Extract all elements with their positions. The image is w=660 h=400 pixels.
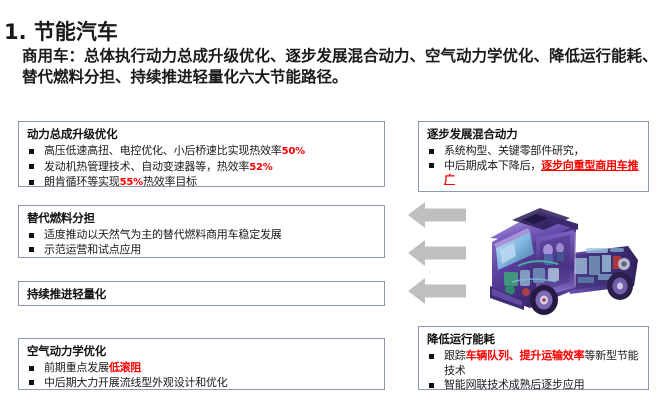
bullet-highlight: 低滚阻 [109,361,141,374]
bullet-square-icon [429,163,434,168]
card-lightweight-title: 持续推进轻量化 [27,287,378,302]
card-hybrid-power-bullets: 系统构型、关键零部件研究， 中后期成本下降后，逐步向重型商用车推广 [427,144,642,188]
list-item: 适度推动以天然气为主的替代燃料商用车稳定发展 [27,228,378,243]
bullet-text: 高压低速高扭、电控优化、小后桥速比实现热效率 [44,144,282,157]
card-powertrain: 动力总成升级优化 高压低速高扭、电控优化、小后桥速比实现热效率50% 发动机热管… [18,121,385,187]
bullet-text: 系统构型、关键零部件研究， [444,144,584,157]
bullet-square-icon [429,354,434,359]
card-alternative-fuel-bullets: 适度推动以天然气为主的替代燃料商用车稳定发展 示范运营和试点应用 [27,228,378,257]
bullet-text-before: 中后期成本下降后， [444,159,541,172]
card-energy-consumption: 降低运行能耗 跟踪车辆队列、提升运输效率等新型节能技术 智能网联技术成熟后逐步应… [418,326,649,390]
bullet-text-before: 跟踪 [444,349,466,362]
card-powertrain-bullets: 高压低速高扭、电控优化、小后桥速比实现热效率50% 发动机热管理技术、自动变速器… [27,144,378,191]
list-item: 发动机热管理技术、自动变速器等，热效率52% [27,160,378,176]
list-item: 高压低速高扭、电控优化、小后桥速比实现热效率50% [27,144,378,160]
bullet-highlight: 50% [282,146,305,157]
bullet-square-icon [29,247,34,252]
card-hybrid-power: 逐步发展混合动力 系统构型、关键零部件研究， 中后期成本下降后，逐步向重型商用车… [418,121,649,192]
bullet-text: 智能网联技术成熟后逐步应用 [444,378,584,391]
bullet-square-icon [429,383,434,388]
card-lightweight: 持续推进轻量化 [18,281,385,306]
bullet-highlight: 52% [249,162,272,173]
bullet-square-icon [29,180,34,185]
list-item: 前期重点发展低滚阻 [27,361,378,376]
page-title: 1. 节能汽车 [4,16,118,46]
card-aerodynamics-bullets: 前期重点发展低滚阻 中后期大力开展流线型外观设计和优化 [27,361,378,390]
list-item: 系统构型、关键零部件研究， [427,144,642,159]
bullet-square-icon [29,366,34,371]
bullet-text: 适度推动以天然气为主的替代燃料商用车稳定发展 [44,228,282,241]
page-subtitle: 商用车：总体执行动力总成升级优化、逐步发展混合动力、空气动力学优化、降低运行能耗… [22,46,658,88]
bullet-square-icon [29,233,34,238]
card-energy-consumption-bullets: 跟踪车辆队列、提升运输效率等新型节能技术 智能网联技术成熟后逐步应用 [427,349,642,393]
bullet-text: 发动机热管理技术、自动变速器等，热效率 [44,160,249,173]
bullet-square-icon [29,149,34,154]
card-powertrain-title: 动力总成升级优化 [27,127,378,142]
bullet-text-after: 热效率目标 [143,175,197,188]
list-item: 中后期成本下降后，逐步向重型商用车推广 [427,159,642,188]
bullet-highlight: 55% [120,177,143,188]
truck-cutaway-illustration [478,198,646,320]
list-item: 朗肯循环等实现55%热效率目标 [27,175,378,191]
bullet-text: 中后期大力开展流线型外观设计和优化 [44,376,228,389]
bullet-square-icon [429,149,434,154]
bullet-text-before: 前期重点发展 [44,361,109,374]
card-aerodynamics-title: 空气动力学优化 [27,344,378,359]
bullet-text: 示范运营和试点应用 [44,243,141,256]
arrow-left-icon [408,240,466,266]
card-alternative-fuel-title: 替代燃料分担 [27,211,378,226]
list-item: 示范运营和试点应用 [27,243,378,258]
bullet-square-icon [29,164,34,169]
list-item: 跟踪车辆队列、提升运输效率等新型节能技术 [427,349,642,378]
card-hybrid-power-title: 逐步发展混合动力 [427,127,642,142]
list-item: 中后期大力开展流线型外观设计和优化 [27,376,378,391]
card-aerodynamics: 空气动力学优化 前期重点发展低滚阻 中后期大力开展流线型外观设计和优化 [18,338,385,390]
bullet-square-icon [29,380,34,385]
arrow-left-icon [408,202,466,228]
bullet-text-before: 朗肯循环等实现 [44,175,120,188]
list-item: 智能网联技术成熟后逐步应用 [427,378,642,393]
card-alternative-fuel: 替代燃料分担 适度推动以天然气为主的替代燃料商用车稳定发展 示范运营和试点应用 [18,205,385,258]
arrow-left-icon [408,278,466,304]
card-energy-consumption-title: 降低运行能耗 [427,332,642,347]
bullet-highlight: 车辆队列、提升运输效率 [466,349,585,362]
